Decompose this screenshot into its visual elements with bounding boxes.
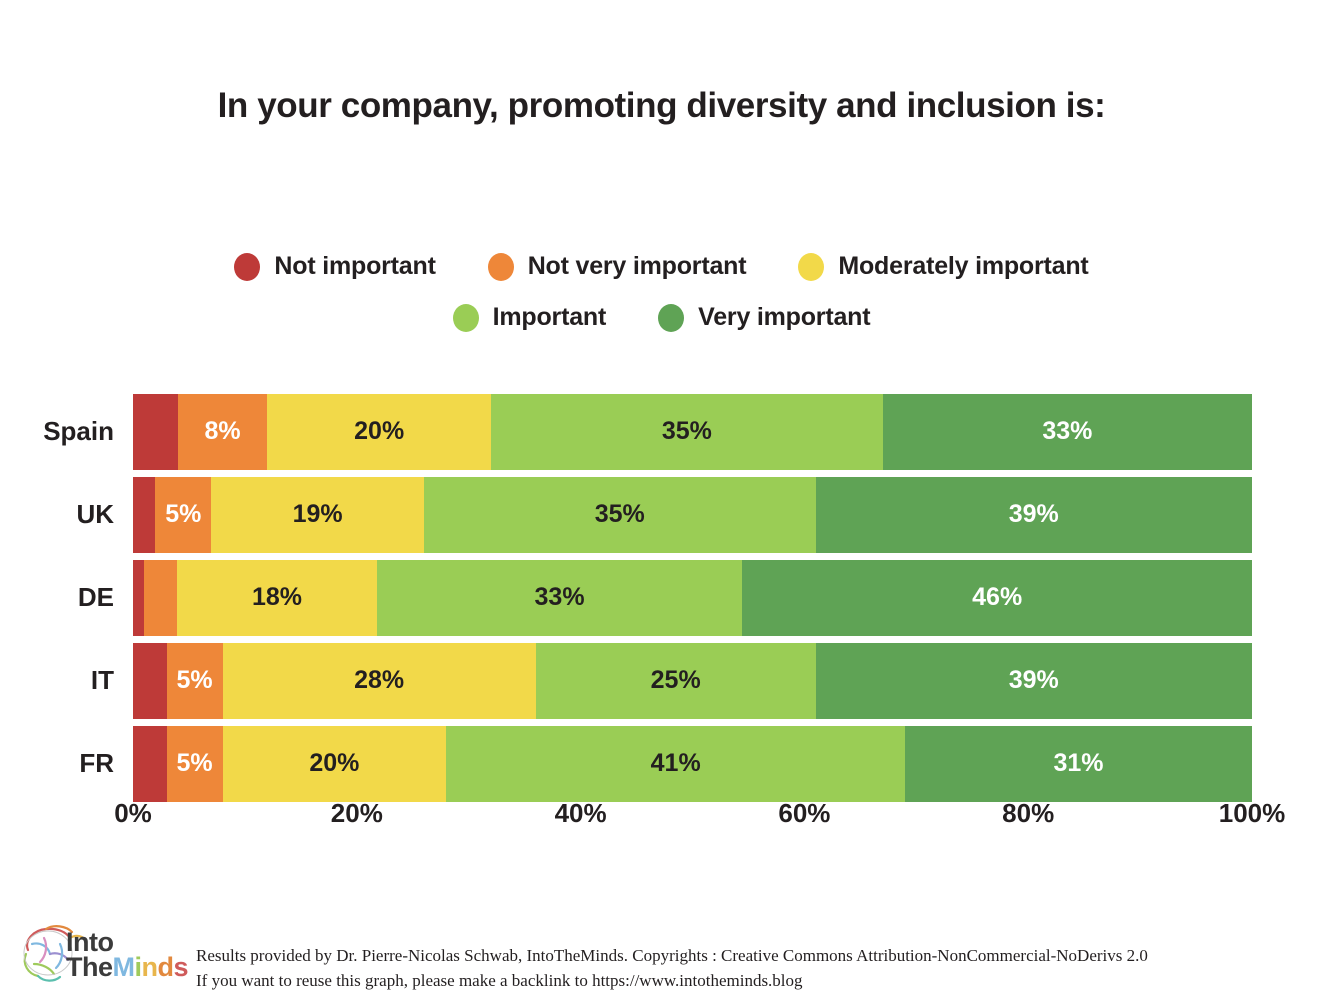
legend-row-1: Not important Not very important Moderat… [0,252,1323,281]
bar-segment-it-moderately-important: 28% [223,643,536,719]
category-label-uk: UK [0,499,133,530]
logo-n-text: n [142,952,158,982]
bar-segment-fr-important: 41% [446,726,905,802]
legend-label-moderately-important: Moderately important [838,252,1088,281]
chart-plot-area: Spain8%20%35%33%UK5%19%35%39%DE18%33%46%… [0,390,1323,805]
bar-segment-uk-moderately-important: 19% [211,477,424,553]
bar-segment-fr-not-very-important: 5% [167,726,223,802]
bar-segment-spain-very-important: 33% [883,394,1252,470]
bar-segment-it-important: 25% [536,643,816,719]
legend-dot-moderately-important-icon [798,253,824,281]
x-axis: 0%20%40%60%80%100% [133,798,1252,838]
legend-dot-important-icon [453,304,479,332]
x-axis-tick-60pct: 60% [778,798,830,829]
bar-segment-spain-moderately-important: 20% [267,394,491,470]
bar-segment-spain-important: 35% [491,394,883,470]
bar-segment-spain-not-important [133,394,178,470]
category-label-de: DE [0,582,133,613]
legend-item-not-important: Not important [234,252,435,281]
bar-segment-de-very-important: 46% [742,560,1252,636]
bar-row-fr: FR5%20%41%31% [0,722,1323,805]
bar-segment-de-important: 33% [377,560,743,636]
bar-segment-fr-moderately-important: 20% [223,726,447,802]
bar-segment-it-very-important: 39% [816,643,1252,719]
logo-i-text: i [135,952,142,982]
bar-segment-de-not-very-important [144,560,177,636]
category-label-it: IT [0,665,133,696]
x-axis-tick-20pct: 20% [331,798,383,829]
bar-row-uk: UK5%19%35%39% [0,473,1323,556]
legend-dot-not-important-icon [234,253,260,281]
bar-track-it: 5%28%25%39% [133,643,1252,719]
legend-label-very-important: Very important [698,303,870,332]
legend-item-very-important: Very important [658,303,870,332]
intotheminds-logo: Into TheMinds [14,920,194,996]
bar-segment-fr-not-important [133,726,167,802]
bar-segment-uk-very-important: 39% [816,477,1252,553]
bar-segment-it-not-very-important: 5% [167,643,223,719]
category-label-fr: FR [0,748,133,779]
bar-track-spain: 8%20%35%33% [133,394,1252,470]
footer-line-1: Results provided by Dr. Pierre-Nicolas S… [196,944,1148,969]
legend-label-important: Important [493,303,606,332]
bar-segment-spain-not-very-important: 8% [178,394,268,470]
legend-label-not-important: Not important [274,252,435,281]
bar-track-uk: 5%19%35%39% [133,477,1252,553]
bar-row-spain: Spain8%20%35%33% [0,390,1323,473]
x-axis-tick-100pct: 100% [1219,798,1286,829]
bar-segment-de-not-important [133,560,144,636]
logo-the-text: The [66,952,113,982]
bar-row-de: DE18%33%46% [0,556,1323,639]
logo-d-text: d [158,952,174,982]
page-title: In your company, promoting diversity and… [0,86,1323,126]
x-axis-tick-80pct: 80% [1002,798,1054,829]
bar-row-it: IT5%28%25%39% [0,639,1323,722]
bar-segment-uk-not-very-important: 5% [155,477,211,553]
legend-dot-not-very-important-icon [488,253,514,281]
bar-track-de: 18%33%46% [133,560,1252,636]
bar-track-fr: 5%20%41%31% [133,726,1252,802]
bar-segment-it-not-important [133,643,167,719]
logo-m-text: M [113,952,135,982]
footer-credits: Results provided by Dr. Pierre-Nicolas S… [196,944,1148,993]
legend-label-not-very-important: Not very important [528,252,747,281]
bar-segment-uk-important: 35% [424,477,816,553]
bar-segment-fr-very-important: 31% [905,726,1252,802]
legend-dot-very-important-icon [658,304,684,332]
x-axis-tick-40pct: 40% [555,798,607,829]
chart-legend: Not important Not very important Moderat… [0,252,1323,332]
x-axis-tick-0pct: 0% [114,798,152,829]
legend-row-2: Important Very important [0,303,1323,332]
logo-s-text: s [174,952,189,982]
legend-item-moderately-important: Moderately important [798,252,1088,281]
bar-segment-de-moderately-important: 18% [177,560,376,636]
category-label-spain: Spain [0,416,133,447]
logo-wordmark: Into TheMinds [66,930,188,981]
bar-segment-uk-not-important [133,477,155,553]
footer-line-2: If you want to reuse this graph, please … [196,969,1148,994]
legend-item-important: Important [453,303,606,332]
legend-item-not-very-important: Not very important [488,252,747,281]
